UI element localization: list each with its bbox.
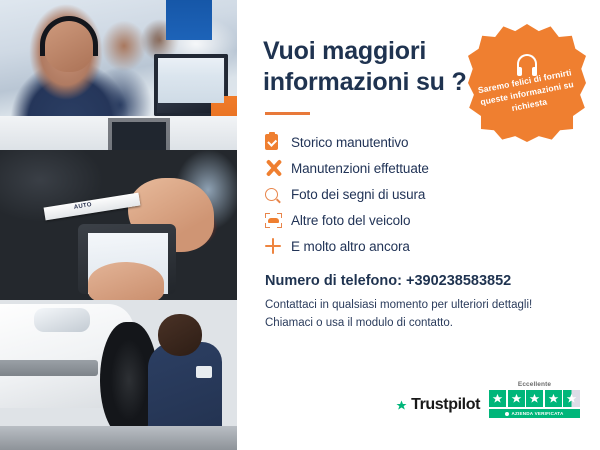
mechanic-tyre-inspection-photo — [0, 300, 237, 450]
star-rating — [489, 390, 580, 407]
desk — [0, 116, 237, 150]
contact-instructions-line-1: Contattaci in qualsiasi momento per ulte… — [265, 296, 578, 314]
check-icon — [505, 412, 509, 416]
trustpilot-rating[interactable]: Trustpilot Eccellente — [396, 381, 580, 419]
star-half — [563, 390, 580, 407]
list-item-label: Foto dei segni di usura — [291, 187, 425, 202]
measuring-strip-label: AUTO — [74, 202, 93, 211]
wall-banner — [166, 0, 212, 40]
contact-instructions: Contattaci in qualsiasi momento per ulte… — [265, 296, 578, 332]
photo-column: AUTO — [0, 0, 237, 450]
list-item: Altre foto del veicolo — [265, 207, 578, 233]
request-info-badge: Saremo felici di fornirti queste informa… — [468, 24, 586, 142]
page-title: Vuoi maggiori informazioni su ? — [263, 36, 478, 97]
phone-number[interactable]: Numero di telefono: +390238583852 — [265, 273, 578, 289]
request-info-badge-text: Saremo felici di fornirti queste informa… — [466, 64, 589, 122]
contact-information-banner: AUTO Vuoi maggiori informazioni su ? Sar… — [0, 0, 600, 450]
list-item-label: Storico manutentivo — [291, 135, 408, 150]
magnifier-icon — [265, 188, 291, 201]
trustpilot-star-icon — [396, 400, 407, 411]
clipboard-check-icon — [265, 134, 291, 150]
lift-platform — [0, 426, 237, 450]
feature-list: Storico manutentivo Manutenzioni effettu… — [265, 129, 578, 259]
call-center-agents-photo — [0, 0, 237, 150]
status-badge-label: AZIENDA VERIFICATA — [511, 411, 563, 416]
content-panel: Vuoi maggiori informazioni su ? Saremo f… — [237, 0, 600, 450]
list-item-label: Altre foto del veicolo — [291, 213, 410, 228]
status-badge: AZIENDA VERIFICATA — [489, 409, 580, 418]
car-photo-frame-icon — [265, 213, 291, 228]
title-divider — [265, 112, 310, 115]
vehicle-inspection-ruler-photo: AUTO — [0, 150, 237, 300]
star-filled — [545, 390, 562, 407]
hand-holding-tablet — [88, 262, 164, 300]
list-item-label: E molto altro ancora — [291, 239, 410, 254]
front-grille — [0, 360, 98, 376]
trustpilot-logo: Trustpilot — [396, 396, 480, 418]
crossed-tools-icon — [265, 159, 291, 177]
headset-icon — [40, 16, 98, 56]
list-item-label: Manutenzioni effettuate — [291, 161, 429, 176]
list-item: Foto dei segni di usura — [265, 181, 578, 207]
star-filled — [508, 390, 525, 407]
plus-icon — [265, 238, 291, 254]
trustpilot-wordmark: Trustpilot — [411, 396, 480, 414]
star-filled — [489, 390, 506, 407]
list-item: E molto altro ancora — [265, 233, 578, 259]
headset-icon — [517, 54, 537, 70]
mechanic-head — [158, 314, 202, 356]
list-item: Manutenzioni effettuate — [265, 155, 578, 181]
rating-label: Eccellente — [518, 381, 551, 388]
headlight — [34, 308, 90, 332]
uniform-logo — [196, 366, 212, 378]
rating-block: Eccellente — [489, 381, 580, 419]
measuring-strip: AUTO — [44, 193, 141, 221]
star-filled — [526, 390, 543, 407]
contact-instructions-line-2: Chiamaci o usa il modulo di contatto. — [265, 314, 578, 332]
